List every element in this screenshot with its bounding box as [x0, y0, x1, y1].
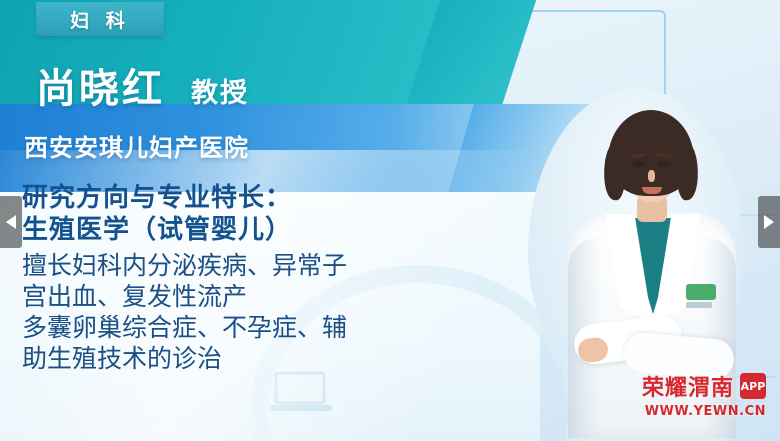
coat-badge-logo: [686, 284, 716, 300]
triangle-left-icon: [6, 215, 16, 229]
watermark: 荣耀渭南 APP WWW.YEWN.CN: [642, 370, 766, 419]
description-line-3: 擅长妇科内分泌疾病、异常子: [22, 250, 452, 281]
watermark-row: 荣耀渭南 APP: [642, 370, 766, 402]
hospital-name: 西安安琪儿妇产医院: [24, 128, 249, 163]
description-line-2: 生殖医学（试管婴儿）: [22, 214, 452, 246]
description-line-5: 多囊卵巢综合症、不孕症、辅: [22, 312, 452, 343]
triangle-right-icon: [764, 215, 774, 229]
description-line-4: 宫出血、复发性流产: [22, 281, 452, 312]
watermark-url: WWW.YEWN.CN: [645, 404, 766, 419]
description-line-1: 研究方向与专业特长：: [22, 182, 452, 214]
doctor-title: 教授: [191, 71, 249, 110]
watermark-app-badge: APP: [740, 373, 766, 399]
eye-left: [632, 161, 645, 167]
carousel-next-button[interactable]: [758, 196, 780, 248]
slide-banner: 妇 科 尚晓红 教授 西安安琪儿妇产医院 研究方向与专业特长： 生殖医学（试管婴…: [0, 0, 780, 441]
department-tag-label: 妇 科: [70, 6, 130, 33]
description-block: 研究方向与专业特长： 生殖医学（试管婴儿） 擅长妇科内分泌疾病、异常子 宫出血、…: [22, 182, 452, 374]
eye-right: [657, 161, 670, 167]
watermark-brand: 荣耀渭南: [642, 370, 734, 402]
carousel-prev-button[interactable]: [0, 196, 22, 248]
doctor-name-row: 尚晓红 教授: [36, 56, 249, 114]
laptop-icon: [268, 371, 336, 415]
department-tag: 妇 科: [36, 2, 164, 36]
description-line-6: 助生殖技术的诊治: [22, 343, 452, 374]
coat-badge-text: [686, 302, 712, 308]
nose: [648, 170, 655, 182]
doctor-name: 尚晓红: [36, 56, 165, 114]
